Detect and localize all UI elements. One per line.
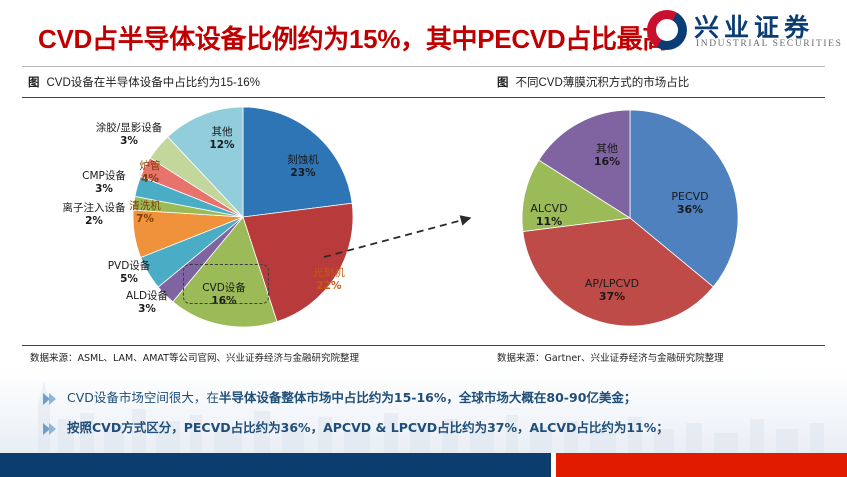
pie-label-pecvd-value: 36% bbox=[658, 204, 722, 217]
header-divider bbox=[22, 66, 825, 67]
pie-label-other-name: 其他 bbox=[212, 126, 233, 138]
chart-panel-right: PECVD36% AP/LPCVD37% ALCVD11% 其他16% bbox=[480, 100, 825, 335]
logo-swirl-icon bbox=[647, 10, 687, 50]
summary-bullet-1-plain: CVD设备市场空间很大，在 bbox=[67, 390, 219, 405]
logo-name-en: INDUSTRIAL SECURITIES bbox=[696, 39, 842, 49]
pie-label-aplpcvd-name: AP/LPCVD bbox=[585, 277, 639, 290]
chart-panel-left: 刻蚀机23% 光刻机22% CVD设备16% ALD设备3% PVD设备5% 清… bbox=[22, 100, 477, 335]
pie-label-pecvd-name: PECVD bbox=[671, 190, 708, 203]
summary-bullet-1: CVD设备市场空间很大，在半导体设备整体市场中占比约为15-16%，全球市场大概… bbox=[42, 390, 636, 405]
summary-bullet-2-text: 按照CVD方式区分，PECVD占比约为36%，APCVD & LPCVD占比约为… bbox=[67, 420, 669, 435]
pie-label-pecvd: PECVD36% bbox=[658, 178, 722, 230]
chevron-right-icon bbox=[42, 392, 58, 406]
pie-label-furnace-name: 炉管 bbox=[140, 160, 161, 172]
pie-label-other-value: 12% bbox=[198, 139, 246, 151]
summary-bullet-2: 按照CVD方式区分，PECVD占比约为36%，APCVD & LPCVD占比约为… bbox=[42, 420, 669, 435]
pie-label-aplpcvd: AP/LPCVD37% bbox=[570, 265, 654, 317]
figure-caption-text-left: CVD设备在半导体设备中占比约为15-16% bbox=[47, 77, 260, 89]
pie-label-alcvd-value: 11% bbox=[518, 216, 580, 229]
skyline-decoration-icon bbox=[0, 375, 847, 453]
connector-arrow bbox=[322, 210, 482, 270]
pie-label-etching-value: 23% bbox=[266, 167, 340, 179]
summary-bullet-1-bold: 半导体设备整体市场中占比约为15-16%，全球市场大概在80-90亿美金； bbox=[219, 390, 636, 405]
pie-label-furnace: 炉管4% bbox=[128, 148, 172, 198]
chevron-right-icon-2 bbox=[42, 422, 58, 436]
pie-label-etching-name: 刻蚀机 bbox=[287, 154, 319, 166]
figure-label-left: 图 bbox=[28, 77, 40, 89]
source-divider bbox=[22, 345, 825, 346]
summary-band: CVD设备市场空间很大，在半导体设备整体市场中占比约为15-16%，全球市场大概… bbox=[0, 368, 847, 453]
pie-label-right-other: 其他16% bbox=[580, 130, 634, 182]
pie-label-implanter-value: 2% bbox=[48, 215, 140, 227]
source-left: 数据来源：ASML、LAM、AMAT等公司官网、兴业证券经济与金融研究院整理 bbox=[30, 350, 359, 364]
company-logo: 兴业证券 INDUSTRIAL SECURITIES bbox=[647, 8, 833, 56]
source-right: 数据来源：Gartner、兴业证券经济与金融研究院整理 bbox=[497, 350, 724, 364]
pie-label-pvd-value: 5% bbox=[92, 273, 166, 285]
pie-label-alcvd-name: ALCVD bbox=[530, 202, 567, 215]
pie-label-pvd-name: PVD设备 bbox=[108, 260, 151, 272]
summary-bullet-1-text: CVD设备市场空间很大，在半导体设备整体市场中占比约为15-16%，全球市场大概… bbox=[67, 390, 636, 405]
page-title: CVD占半导体设备比例约为15%，其中PECVD占比最高 bbox=[38, 20, 658, 58]
slide-root: CVD占半导体设备比例约为15%，其中PECVD占比最高 兴业证券 INDUST… bbox=[0, 0, 847, 477]
pie-label-alcvd: ALCVD11% bbox=[518, 190, 580, 242]
pie-label-etching: 刻蚀机23% bbox=[266, 142, 340, 192]
pie-label-right-other-name: 其他 bbox=[596, 142, 618, 155]
pie-label-furnace-value: 4% bbox=[128, 173, 172, 185]
pie-label-coater-value: 3% bbox=[94, 135, 164, 147]
footer-bar-red bbox=[556, 453, 847, 477]
pie-label-aplpcvd-value: 37% bbox=[570, 291, 654, 304]
pie-label-litho-value: 22% bbox=[292, 280, 366, 292]
pie-label-ald-value: 3% bbox=[110, 303, 184, 315]
caption-divider bbox=[22, 97, 825, 98]
pie-label-pvd: PVD设备5% bbox=[92, 248, 166, 298]
pie-label-coater-name: 涂胶/显影设备 bbox=[96, 122, 163, 134]
pie-label-cmp-name: CMP设备 bbox=[82, 170, 126, 182]
figure-caption-right: 图不同CVD薄膜沉积方式的市场占比 bbox=[497, 74, 689, 90]
summary-bullet-2-bold: 按照CVD方式区分，PECVD占比约为36%，APCVD & LPCVD占比约为… bbox=[67, 420, 669, 435]
figure-label-right: 图 bbox=[497, 77, 509, 89]
figure-caption-text-right: 不同CVD薄膜沉积方式的市场占比 bbox=[516, 77, 690, 89]
pie-label-other: 其他12% bbox=[198, 114, 246, 164]
footer-bar bbox=[0, 453, 847, 477]
cvd-highlight-callout bbox=[183, 264, 269, 304]
pie-label-right-other-value: 16% bbox=[580, 156, 634, 169]
footer-bar-blue bbox=[0, 453, 551, 477]
figure-caption-left: 图CVD设备在半导体设备中占比约为15-16% bbox=[28, 74, 260, 90]
